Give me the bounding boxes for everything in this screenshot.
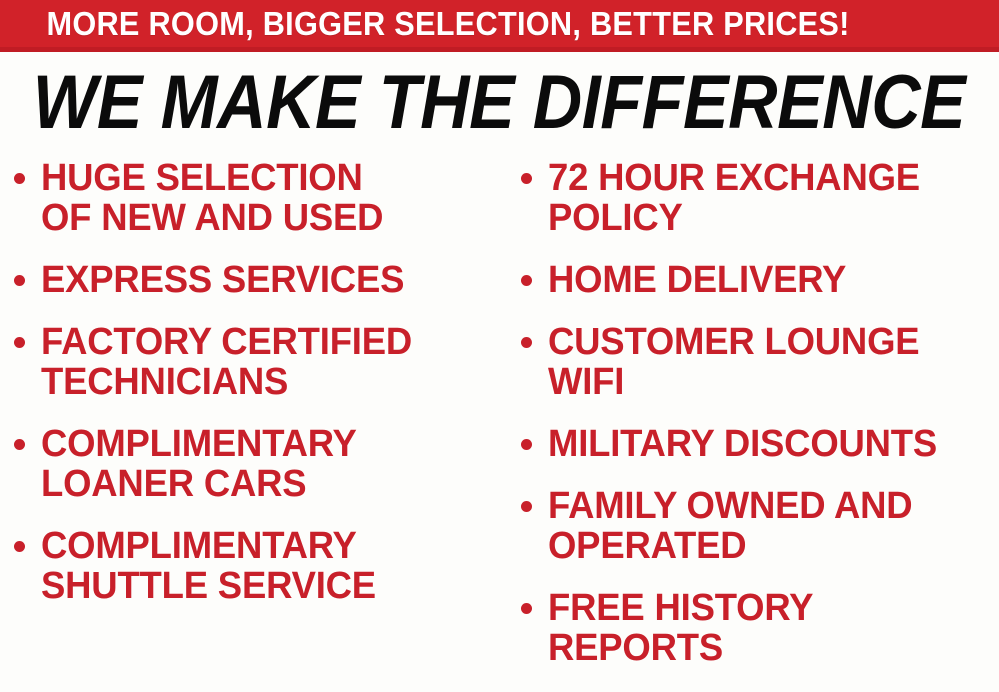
bullet-dot-icon xyxy=(14,337,25,348)
list-item: EXPRESS SERVICES xyxy=(14,260,505,300)
list-item: COMPLIMENTARY SHUTTLE SERVICE xyxy=(14,526,505,606)
headline-container: WE MAKE THE DIFFERENCE xyxy=(0,57,999,149)
promo-banner: MORE ROOM, BIGGER SELECTION, BETTER PRIC… xyxy=(0,0,999,52)
list-item-label: CUSTOMER LOUNGE WIFI xyxy=(548,322,919,402)
list-item: MILITARY DISCOUNTS xyxy=(521,424,999,464)
list-item-label: FREE HISTORY REPORTS xyxy=(548,588,813,668)
list-item: COMPLIMENTARY LOANER CARS xyxy=(14,424,505,504)
list-item-label: FAMILY OWNED AND OPERATED xyxy=(548,486,912,566)
list-item: 72 HOUR EXCHANGE POLICY xyxy=(521,158,999,238)
list-item: FAMILY OWNED AND OPERATED xyxy=(521,486,999,566)
bullet-dot-icon xyxy=(521,501,532,512)
list-item-label: COMPLIMENTARY SHUTTLE SERVICE xyxy=(41,526,376,606)
list-item-label: HOME DELIVERY xyxy=(548,260,846,300)
bullet-dot-icon xyxy=(521,439,532,450)
bullet-dot-icon xyxy=(14,275,25,286)
bullet-dot-icon xyxy=(14,541,25,552)
bullet-dot-icon xyxy=(521,603,532,614)
benefits-columns: HUGE SELECTION OF NEW AND USED EXPRESS S… xyxy=(0,158,999,692)
list-item-label: MILITARY DISCOUNTS xyxy=(548,424,937,464)
list-item: HUGE SELECTION OF NEW AND USED xyxy=(14,158,505,238)
list-item-label: EXPRESS SERVICES xyxy=(41,260,404,300)
promo-banner-text: MORE ROOM, BIGGER SELECTION, BETTER PRIC… xyxy=(0,7,850,40)
list-item-label: FACTORY CERTIFIED TECHNICIANS xyxy=(41,322,412,402)
dealership-advertisement: MORE ROOM, BIGGER SELECTION, BETTER PRIC… xyxy=(0,0,999,692)
list-item: FACTORY CERTIFIED TECHNICIANS xyxy=(14,322,505,402)
list-item: HOME DELIVERY xyxy=(521,260,999,300)
bullet-dot-icon xyxy=(521,275,532,286)
bullet-dot-icon xyxy=(14,173,25,184)
bullet-dot-icon xyxy=(521,337,532,348)
benefits-column-right: 72 HOUR EXCHANGE POLICY HOME DELIVERY CU… xyxy=(505,158,999,692)
benefits-column-left: HUGE SELECTION OF NEW AND USED EXPRESS S… xyxy=(0,158,505,692)
bullet-dot-icon xyxy=(521,173,532,184)
page-title: WE MAKE THE DIFFERENCE xyxy=(33,65,966,141)
list-item-label: COMPLIMENTARY LOANER CARS xyxy=(41,424,357,504)
list-item: CUSTOMER LOUNGE WIFI xyxy=(521,322,999,402)
list-item-label: HUGE SELECTION OF NEW AND USED xyxy=(41,158,383,238)
bullet-dot-icon xyxy=(14,439,25,450)
list-item-label: 72 HOUR EXCHANGE POLICY xyxy=(548,158,920,238)
list-item: FREE HISTORY REPORTS xyxy=(521,588,999,668)
